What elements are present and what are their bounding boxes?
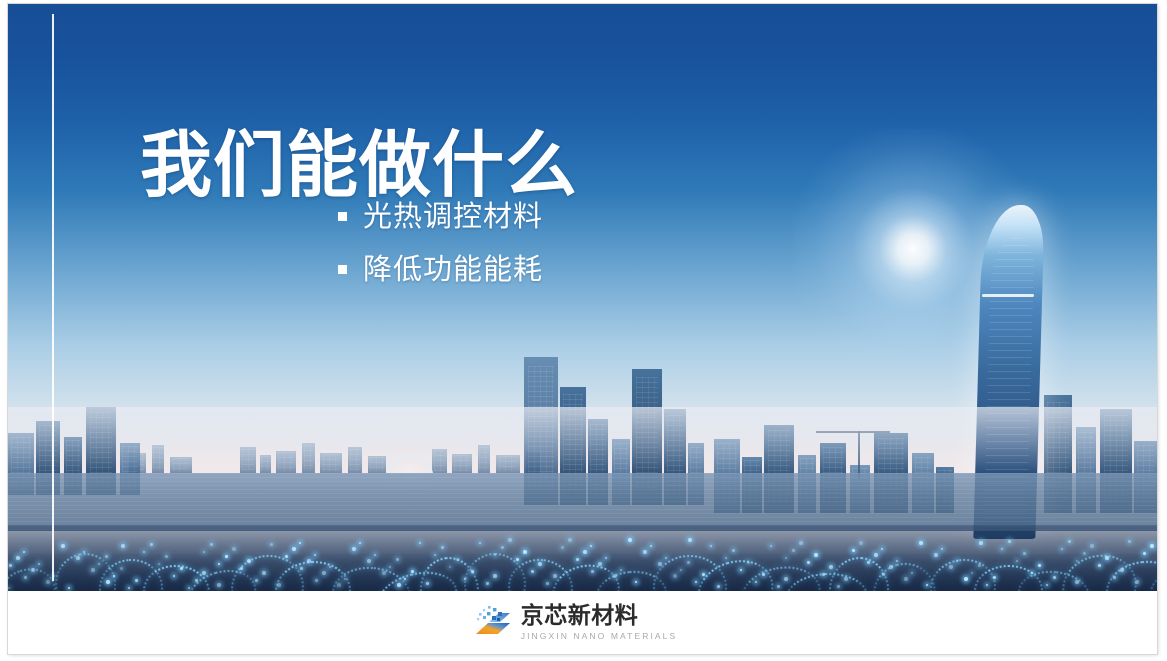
light-dot	[896, 560, 898, 562]
waterfront	[8, 473, 1157, 531]
light-dot	[598, 562, 602, 566]
light-dot	[195, 579, 198, 582]
light-dot	[217, 583, 221, 587]
light-dot	[747, 561, 750, 564]
light-dot	[1090, 544, 1094, 548]
light-dot	[180, 567, 183, 570]
light-dot	[978, 564, 981, 567]
light-dot	[702, 573, 705, 576]
light-dot	[91, 568, 95, 572]
light-dot	[1083, 552, 1086, 555]
light-dot	[971, 572, 973, 574]
light-dot	[650, 545, 652, 547]
light-dot	[680, 569, 682, 571]
light-dot	[202, 571, 206, 575]
light-dot	[61, 544, 65, 548]
light-dot	[270, 543, 273, 546]
light-dot	[1143, 552, 1146, 555]
light-dot	[307, 559, 311, 563]
light-dot	[1135, 580, 1139, 584]
light-dot	[1076, 560, 1078, 562]
light-dot	[1098, 564, 1101, 567]
light-dot	[501, 546, 504, 549]
light-dot	[210, 543, 213, 546]
light-dot	[695, 581, 697, 583]
light-dot	[9, 564, 12, 567]
light-dot	[516, 558, 519, 561]
light-dot	[23, 551, 25, 553]
skyscraper-light-band	[982, 294, 1034, 297]
light-dot	[135, 579, 138, 582]
light-dot	[881, 548, 883, 550]
light-dot	[464, 578, 466, 580]
light-dot	[986, 584, 988, 586]
light-dot	[121, 544, 125, 548]
light-dot	[852, 549, 855, 552]
light-dot	[471, 570, 474, 573]
light-dot	[486, 582, 489, 585]
light-dot	[1105, 556, 1109, 560]
jingxin-logo-mark-icon	[472, 604, 512, 642]
light-dot	[411, 570, 414, 573]
light-dot	[322, 571, 326, 575]
light-dot	[1075, 580, 1079, 584]
light-dot	[396, 558, 399, 561]
light-dot	[949, 565, 953, 569]
light-dot	[165, 555, 168, 558]
light-dot	[113, 575, 115, 577]
light-dot	[128, 587, 130, 589]
light-dot	[904, 577, 908, 581]
light-dot	[755, 581, 757, 583]
light-dot	[799, 541, 803, 545]
light-dot	[150, 543, 153, 546]
light-dot	[844, 577, 848, 581]
light-dot	[277, 583, 281, 587]
light-dot	[523, 550, 527, 554]
light-dot	[218, 563, 220, 565]
light-dot	[38, 563, 40, 565]
light-dot	[315, 579, 318, 582]
light-dot	[770, 545, 772, 547]
light-dot	[382, 571, 386, 575]
light-dot	[106, 580, 110, 584]
light-dot	[255, 579, 258, 582]
light-dot	[784, 577, 788, 581]
light-dot	[762, 573, 765, 576]
slide-footer: 京芯新材料 JINGXIN NANO MATERIALS	[8, 591, 1157, 654]
slide-background-image	[8, 4, 1157, 591]
light-dot	[292, 547, 296, 551]
light-dot	[203, 551, 205, 553]
light-dot	[285, 555, 288, 558]
light-dot	[538, 562, 542, 566]
light-dot	[359, 542, 361, 544]
light-dot	[1023, 552, 1026, 555]
light-dot	[8, 587, 10, 589]
light-dot	[1128, 540, 1131, 543]
light-dot	[740, 569, 742, 571]
light-dot	[441, 546, 444, 549]
light-dot	[16, 556, 20, 560]
left-accent-divider	[52, 14, 54, 581]
light-dot	[911, 572, 913, 574]
light-dot	[673, 574, 677, 578]
light-trail-band	[8, 525, 1157, 591]
presentation-slide: 我们能做什么 光热调控材料 降低功能能耗	[8, 4, 1157, 654]
light-dot	[105, 555, 108, 558]
bullet-list: 光热调控材料 降低功能能耗	[338, 194, 543, 300]
list-item-label: 光热调控材料	[363, 194, 543, 239]
light-dot	[546, 582, 549, 585]
light-dot	[576, 558, 579, 561]
light-dot	[397, 583, 401, 587]
light-dot	[173, 575, 175, 577]
light-dot	[874, 553, 878, 557]
light-dot	[434, 554, 436, 556]
light-dot	[1053, 576, 1056, 579]
light-dot	[1061, 548, 1063, 550]
light-dot	[98, 563, 100, 565]
light-dot	[1046, 584, 1048, 586]
light-dot	[337, 583, 341, 587]
light-dot	[687, 561, 690, 564]
light-dot	[613, 574, 617, 578]
light-dot	[979, 541, 983, 545]
light-dot	[352, 547, 356, 551]
light-dot	[889, 565, 893, 569]
light-dot	[964, 577, 968, 581]
list-item: 光热调控材料	[338, 194, 543, 239]
light-dot	[456, 558, 459, 561]
light-dot	[941, 548, 943, 550]
light-dot	[859, 541, 863, 545]
light-dot	[76, 556, 80, 560]
city-skyline	[8, 361, 1157, 591]
light-dot	[299, 542, 301, 544]
light-dot	[934, 553, 938, 557]
light-dot	[583, 550, 587, 554]
light-dot	[240, 567, 243, 570]
light-dot	[1008, 540, 1011, 543]
light-dot	[993, 576, 996, 579]
light-dot	[1031, 572, 1033, 574]
light-dot	[158, 563, 160, 565]
light-dot	[24, 576, 27, 579]
light-dot	[1120, 568, 1124, 572]
light-dot	[814, 553, 818, 557]
light-dot	[404, 578, 406, 580]
light-dot	[31, 568, 35, 572]
light-dot	[494, 554, 496, 556]
light-dot	[837, 585, 840, 588]
light-dot	[658, 562, 662, 566]
light-dot	[926, 584, 928, 586]
light-dot	[725, 557, 727, 559]
light-dot	[688, 538, 692, 542]
light-dot	[807, 561, 810, 564]
light-dot	[493, 574, 497, 578]
light-dot	[344, 578, 346, 580]
logo-text-block: 京芯新材料 JINGXIN NANO MATERIALS	[521, 605, 678, 641]
light-dot	[531, 570, 534, 573]
light-dot	[635, 581, 637, 583]
light-dot	[717, 585, 720, 588]
construction-crane-icon	[858, 431, 860, 479]
light-dot	[956, 560, 958, 562]
page-title: 我们能做什么	[140, 128, 578, 204]
light-dot	[367, 559, 371, 563]
light-dot	[232, 547, 236, 551]
light-dot	[867, 561, 870, 564]
light-dot	[1016, 560, 1018, 562]
light-dot	[829, 565, 833, 569]
light-dot	[777, 585, 780, 588]
light-dot	[479, 542, 481, 544]
light-dot	[732, 549, 735, 552]
square-bullet-icon	[338, 212, 347, 221]
light-dot	[1113, 576, 1116, 579]
light-dot	[329, 566, 331, 568]
light-dot	[710, 545, 712, 547]
light-dot	[68, 587, 70, 589]
light-dot	[553, 574, 557, 578]
light-dot	[568, 538, 572, 542]
light-dot	[83, 551, 85, 553]
light-dot	[620, 569, 622, 571]
light-dot	[1068, 540, 1071, 543]
square-bullet-icon	[338, 265, 347, 274]
logo-name-en: JINGXIN NANO MATERIALS	[521, 632, 678, 641]
light-dot	[46, 580, 50, 584]
list-item: 降低功能能耗	[338, 247, 543, 292]
light-dot	[188, 587, 190, 589]
light-dot	[262, 571, 266, 575]
light-dot	[389, 566, 391, 568]
light-dot	[1001, 548, 1003, 550]
light-dot	[919, 541, 923, 545]
light-dot	[792, 549, 795, 552]
light-dot	[419, 542, 421, 544]
light-dot	[426, 582, 429, 585]
logo-name-cn: 京芯新材料	[521, 605, 678, 628]
light-dot	[561, 546, 564, 549]
light-dot	[247, 559, 251, 563]
light-dot	[591, 570, 594, 573]
light-dot	[314, 554, 316, 556]
light-dot	[225, 555, 228, 558]
light-dot	[374, 554, 376, 556]
light-dot	[120, 567, 123, 570]
light-dot	[665, 557, 667, 559]
light-dot	[628, 538, 632, 542]
light-dot	[1038, 564, 1041, 567]
list-item-label: 降低功能能耗	[363, 247, 543, 292]
light-dot	[449, 566, 451, 568]
light-dot	[643, 550, 647, 554]
company-logo: 京芯新材料 JINGXIN NANO MATERIALS	[472, 604, 678, 642]
light-dot	[590, 545, 592, 547]
light-dot	[785, 557, 787, 559]
light-dot	[882, 573, 885, 576]
light-dot	[508, 538, 512, 542]
light-dot	[822, 573, 825, 576]
light-dot	[143, 551, 145, 553]
light-dot	[1150, 544, 1154, 548]
light-dot	[300, 567, 303, 570]
light-dot	[605, 557, 607, 559]
